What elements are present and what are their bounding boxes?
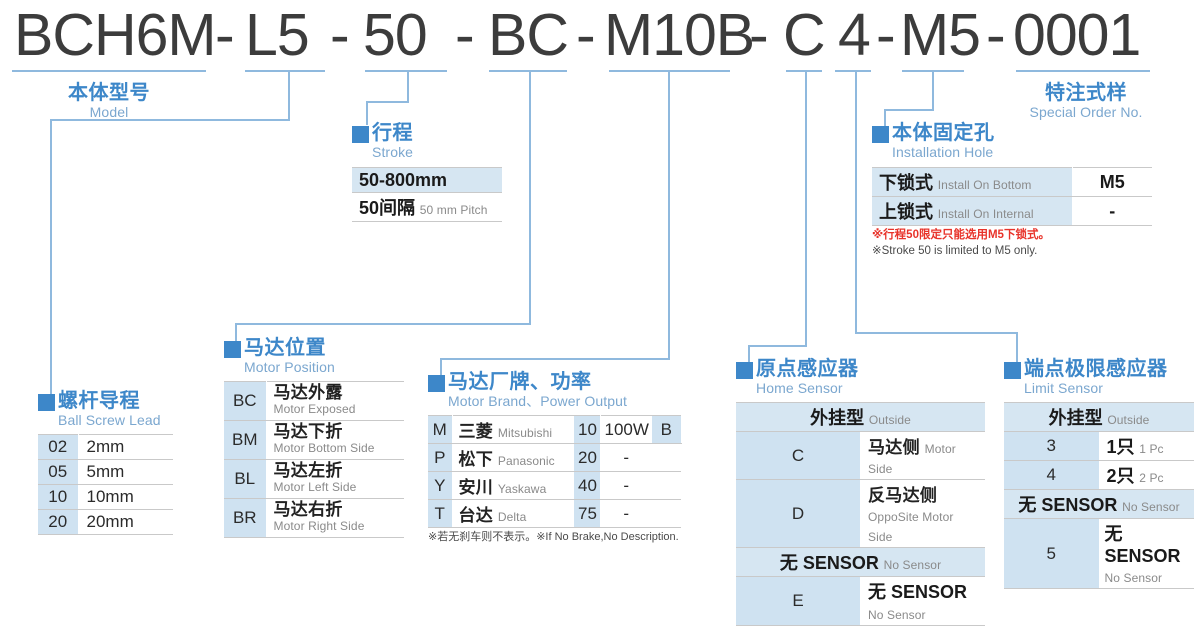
table-row[interactable]: BM 马达下折 Motor Bottom Side <box>224 421 404 460</box>
table-row-group-header: 外挂型 Outside <box>1004 403 1194 432</box>
home-en: No Sensor <box>868 608 926 622</box>
brake-code <box>652 500 681 528</box>
table-row[interactable]: D 反马达侧 OppoSite Motor Side <box>736 480 985 548</box>
code-segment-install-hole: M5 <box>900 4 980 66</box>
square-bullet-icon <box>428 375 445 392</box>
leader-limit-h <box>855 332 1018 334</box>
home-sensor-table: 外挂型 Outside C 马达侧 Motor Side D 反马达侧 Oppo… <box>736 402 985 626</box>
table-row-group-header: 无 SENSOR No Sensor <box>736 548 985 577</box>
brand-cn: 三菱 <box>459 422 494 441</box>
table-row[interactable]: 50-800mm <box>352 168 502 193</box>
section-motor-position-title-cn: 马达位置 <box>244 337 335 359</box>
motor-pos-cn: 马达右折 <box>274 502 401 518</box>
table-row[interactable]: BR 马达右折 Motor Right Side <box>224 499 404 538</box>
home-en: OppoSite Motor Side <box>868 510 953 544</box>
section-ball-screw-lead-title-en: Ball Screw Lead <box>58 412 161 429</box>
limit-en: 1 Pc <box>1139 442 1163 456</box>
limit-cn: 2只 <box>1107 466 1135 486</box>
leader-mpos-v1 <box>529 70 531 325</box>
brand-cn: 安川 <box>459 478 494 497</box>
brand-code: M <box>428 416 452 444</box>
table-row[interactable]: 上锁式 Install On Internal - <box>872 197 1152 226</box>
motor-pos-cn: 马达下折 <box>274 424 401 440</box>
table-row[interactable]: 下锁式 Install On Bottom M5 <box>872 168 1152 197</box>
section-installation-hole: 本体固定孔 Installation Hole 下锁式 Install On B… <box>872 122 1152 258</box>
limit-en: No Sensor <box>1105 571 1163 585</box>
home-group2-cn: 无 SENSOR <box>780 553 879 573</box>
limit-group2-cn: 无 SENSOR <box>1018 495 1117 515</box>
install-bottom-en: Install On Bottom <box>938 178 1032 192</box>
leader-mbrand-v1 <box>668 70 670 360</box>
motor-pos-en: Motor Bottom Side <box>274 440 401 456</box>
leader-stroke-v1 <box>407 70 409 103</box>
square-bullet-icon <box>736 362 753 379</box>
stroke-pitch-en: 50 mm Pitch <box>420 203 488 217</box>
motor-pos-code: BL <box>224 460 266 499</box>
square-bullet-icon <box>352 126 369 143</box>
leader-hole-h <box>884 109 934 111</box>
table-row[interactable]: 10 10mm <box>38 485 173 510</box>
brand-en: Yaskawa <box>498 482 547 496</box>
section-special-order-title-en: Special Order No. <box>1016 104 1156 121</box>
power-value: - <box>600 500 652 528</box>
section-installation-hole-title-cn: 本体固定孔 <box>892 122 995 144</box>
install-bottom-value: M5 <box>1100 172 1125 192</box>
leader-limit-v1b <box>855 70 857 334</box>
leader-home-h <box>748 345 807 347</box>
limit-en: 2 Pc <box>1139 471 1163 485</box>
table-row[interactable]: 02 2mm <box>38 435 173 460</box>
stroke-pitch-cn: 50间隔 <box>359 198 415 218</box>
install-internal-en: Install On Internal <box>938 207 1034 221</box>
home-code: D <box>736 480 861 548</box>
table-row[interactable]: BC 马达外露 Motor Exposed <box>224 382 404 421</box>
leader-hole-v1 <box>932 70 934 111</box>
underline-special-order <box>1016 70 1150 72</box>
brake-code: B <box>652 416 681 444</box>
home-group1-cn: 外挂型 <box>810 408 864 428</box>
lead-value: 5mm <box>78 460 173 485</box>
brand-en: Mitsubishi <box>498 426 552 440</box>
underline-lead <box>245 70 325 72</box>
brand-en: Delta <box>498 510 527 524</box>
lead-code: 20 <box>38 510 78 535</box>
code-segment-limit-sensor: 4 <box>838 4 870 66</box>
lead-code: 02 <box>38 435 78 460</box>
limit-code: 5 <box>1004 519 1099 589</box>
code-segment-model: BCH6M <box>14 4 216 66</box>
code-dash-2: - <box>330 4 350 66</box>
table-row[interactable]: 05 5mm <box>38 460 173 485</box>
power-code: 10 <box>574 416 600 444</box>
brand-cn: 松下 <box>459 450 494 469</box>
motor-pos-cn: 马达外露 <box>274 385 401 401</box>
section-motor-brand: 马达厂牌、功率 Motor Brand、Power Output M 三菱 Mi… <box>428 371 682 544</box>
limit-cn: 无 SENSOR <box>1105 524 1181 566</box>
code-segment-lead: L5 <box>245 4 309 66</box>
lead-value: 10mm <box>78 485 173 510</box>
power-code: 75 <box>574 500 600 528</box>
table-row[interactable]: 3 1只 1 Pc <box>1004 432 1194 461</box>
section-stroke-title-en: Stroke <box>372 144 413 161</box>
table-row[interactable]: 20 20mm <box>38 510 173 535</box>
lead-code: 10 <box>38 485 78 510</box>
power-value: 100W <box>600 416 652 444</box>
leader-home-v1 <box>805 70 807 347</box>
motor-pos-code: BR <box>224 499 266 538</box>
table-row[interactable]: M 三菱 Mitsubishi 10 100W B <box>428 416 681 444</box>
code-dash-4: - <box>576 4 596 66</box>
code-dash-1: - <box>215 4 235 66</box>
power-code: 20 <box>574 444 600 472</box>
table-row[interactable]: C 马达侧 Motor Side <box>736 432 985 480</box>
section-limit-sensor: 端点极限感应器 Limit Sensor 外挂型 Outside 3 1只 1 … <box>1004 358 1194 589</box>
leader-lead-v1 <box>288 70 290 120</box>
square-bullet-icon <box>872 126 889 143</box>
limit-group1-cn: 外挂型 <box>1049 408 1103 428</box>
square-bullet-icon <box>1004 362 1021 379</box>
ball-screw-lead-table: 02 2mm 05 5mm 10 10mm 20 20mm <box>38 434 173 535</box>
section-motor-brand-title-cn: 马达厂牌、功率 <box>448 371 627 393</box>
leader-mbrand-h <box>440 358 670 360</box>
section-model-title-cn: 本体型号 <box>12 82 206 104</box>
leader-lead-v2 <box>50 119 52 394</box>
power-value: - <box>600 444 652 472</box>
install-internal-value: - <box>1109 201 1115 221</box>
section-motor-position: 马达位置 Motor Position BC 马达外露 Motor Expose… <box>224 337 404 538</box>
table-row[interactable]: 4 2只 2 Pc <box>1004 461 1194 490</box>
code-dash-3: - <box>455 4 475 66</box>
code-segment-home-sensor: C <box>783 4 825 66</box>
code-dash-7: - <box>986 4 1006 66</box>
installation-hole-table: 下锁式 Install On Bottom M5 上锁式 Install On … <box>872 167 1152 226</box>
install-note-en: ※Stroke 50 is limited to M5 only. <box>872 244 1152 258</box>
stroke-table: 50-800mm 50间隔 50 mm Pitch <box>352 167 502 222</box>
install-internal-cn: 上锁式 <box>879 202 933 222</box>
home-cn: 马达侧 <box>868 438 920 457</box>
underline-stroke <box>365 70 447 72</box>
underline-motor-pos <box>489 70 567 72</box>
square-bullet-icon <box>38 394 55 411</box>
table-row[interactable]: E 无 SENSOR No Sensor <box>736 577 985 626</box>
square-bullet-icon <box>224 341 241 358</box>
lead-code: 05 <box>38 460 78 485</box>
section-ball-screw-lead: 螺杆导程 Ball Screw Lead 02 2mm 05 5mm 10 10… <box>38 390 173 535</box>
table-row[interactable]: P 松下 Panasonic 20 - <box>428 444 681 472</box>
section-ball-screw-lead-title-cn: 螺杆导程 <box>58 390 161 412</box>
motor-pos-en: Motor Right Side <box>274 518 401 534</box>
motor-pos-cn: 马达左折 <box>274 463 401 479</box>
code-dash-6: - <box>876 4 896 66</box>
section-model: 本体型号 Model <box>12 82 206 122</box>
table-row[interactable]: T 台达 Delta 75 - <box>428 500 681 528</box>
home-code: E <box>736 577 861 626</box>
lead-value: 2mm <box>78 435 173 460</box>
underline-limit-sensor <box>835 70 871 72</box>
section-home-sensor-title-en: Home Sensor <box>756 380 859 397</box>
section-motor-position-title-en: Motor Position <box>244 359 335 376</box>
table-row-group-header: 无 SENSOR No Sensor <box>1004 490 1194 519</box>
code-segment-motor-brand: M10B <box>604 4 754 66</box>
table-row[interactable]: BL 马达左折 Motor Left Side <box>224 460 404 499</box>
brake-code <box>652 472 681 500</box>
brand-code: T <box>428 500 452 528</box>
section-limit-sensor-title-cn: 端点极限感应器 <box>1024 358 1168 380</box>
brand-code: Y <box>428 472 452 500</box>
install-note-cn: ※行程50限定只能选用M5下锁式。 <box>872 228 1152 242</box>
leader-mpos-h <box>235 323 531 325</box>
section-special-order-title-cn: 特注式样 <box>1016 82 1156 104</box>
brand-code: P <box>428 444 452 472</box>
code-segment-special-order: 0001 <box>1013 4 1140 66</box>
section-installation-hole-title-en: Installation Hole <box>892 144 995 161</box>
motor-pos-code: BC <box>224 382 266 421</box>
motor-pos-code: BM <box>224 421 266 460</box>
section-stroke-title-cn: 行程 <box>372 122 413 144</box>
power-value: - <box>600 472 652 500</box>
brand-en: Panasonic <box>498 454 555 468</box>
underline-home-sensor <box>786 70 822 72</box>
section-home-sensor: 原点感应器 Home Sensor 外挂型 Outside C 马达侧 Moto… <box>736 358 985 626</box>
section-stroke: 行程 Stroke 50-800mm 50间隔 50 mm Pitch <box>352 122 502 222</box>
section-model-title-en: Model <box>12 104 206 121</box>
section-special-order: 特注式样 Special Order No. <box>1016 82 1156 122</box>
motor-pos-en: Motor Left Side <box>274 479 401 495</box>
limit-code: 3 <box>1004 432 1099 461</box>
brake-code <box>652 444 681 472</box>
lead-value: 20mm <box>78 510 173 535</box>
stroke-range-value: 50-800mm <box>359 170 447 190</box>
part-number-code: BCH6M - L5 - 50 - BC - M10B - C 4 - M5 -… <box>0 4 1200 66</box>
table-row[interactable]: Y 安川 Yaskawa 40 - <box>428 472 681 500</box>
home-cn: 反马达侧 <box>868 486 937 505</box>
home-code: C <box>736 432 861 480</box>
table-row[interactable]: 5 无 SENSOR No Sensor <box>1004 519 1194 589</box>
power-code: 40 <box>574 472 600 500</box>
limit-group2-en: No Sensor <box>1122 500 1180 514</box>
home-group2-en: No Sensor <box>884 558 942 572</box>
underline-model <box>12 70 206 72</box>
limit-cn: 1只 <box>1107 437 1135 457</box>
code-dash-5: - <box>749 4 769 66</box>
home-group1-en: Outside <box>869 413 911 427</box>
diagram-canvas: BCH6M - L5 - 50 - BC - M10B - C 4 - M5 -… <box>0 0 1200 549</box>
table-row[interactable]: 50间隔 50 mm Pitch <box>352 193 502 222</box>
home-cn: 无 SENSOR <box>868 582 967 602</box>
brand-cn: 台达 <box>459 506 494 525</box>
motor-position-table: BC 马达外露 Motor Exposed BM 马达下折 Motor Bott… <box>224 381 404 538</box>
table-row-group-header: 外挂型 Outside <box>736 403 985 432</box>
install-bottom-cn: 下锁式 <box>879 173 933 193</box>
motor-brand-table: M 三菱 Mitsubishi 10 100W B P 松下 Panasonic… <box>428 415 682 528</box>
limit-sensor-table: 外挂型 Outside 3 1只 1 Pc 4 2只 2 Pc <box>1004 402 1194 589</box>
motor-pos-en: Motor Exposed <box>274 401 401 417</box>
limit-code: 4 <box>1004 461 1099 490</box>
section-motor-brand-title-en: Motor Brand、Power Output <box>448 393 627 410</box>
limit-group1-en: Outside <box>1107 413 1149 427</box>
code-segment-motor-pos: BC <box>488 4 568 66</box>
section-limit-sensor-title-en: Limit Sensor <box>1024 380 1168 397</box>
code-segment-stroke: 50 <box>363 4 427 66</box>
leader-stroke-h <box>366 101 409 103</box>
section-home-sensor-title-cn: 原点感应器 <box>756 358 859 380</box>
motor-brand-note: ※若无刹车则不表示。※If No Brake,No Description. <box>428 530 682 544</box>
